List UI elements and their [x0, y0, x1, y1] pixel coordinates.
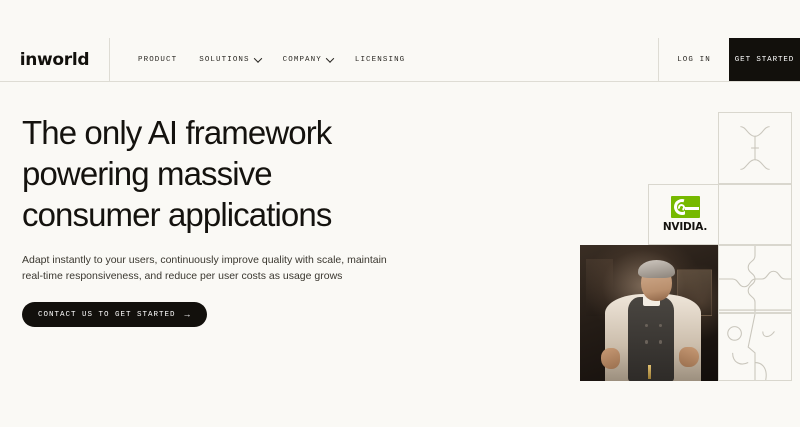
get-started-button[interactable]: GET STARTED [729, 38, 800, 81]
hero-subtext: Adapt instantly to your users, continuou… [22, 252, 394, 284]
landing-page: inworld PRODUCT SOLUTIONS COMPANY LICENS… [0, 0, 800, 427]
arrow-right-icon: → [183, 310, 192, 319]
nav-item-company-label: COMPANY [283, 56, 322, 64]
headline-line-3: consumer applications [22, 196, 331, 233]
logo[interactable]: inworld [0, 38, 110, 81]
puzzle-ibeam-tile [718, 112, 792, 184]
nvidia-logo-tile: NVIDIA. [648, 184, 722, 245]
hero-section: The only AI framework powering massive c… [22, 112, 422, 327]
empty-grid-tile [718, 184, 792, 245]
nav-item-product-label: PRODUCT [138, 56, 177, 64]
contact-us-button[interactable]: CONTACT US TO GET STARTED → [22, 302, 207, 327]
puzzle-piece-tile-lower [718, 313, 792, 381]
hero-visual-grid: NVIDIA. [580, 112, 792, 382]
nav-item-product[interactable]: PRODUCT [138, 56, 177, 64]
puzzle-piece-icon [719, 314, 791, 380]
nvidia-logo-label: NVIDIA. [663, 221, 707, 233]
primary-nav: PRODUCT SOLUTIONS COMPANY LICENSING [110, 38, 658, 81]
page-title: The only AI framework powering massive c… [22, 112, 422, 235]
get-started-button-label: GET STARTED [735, 56, 794, 64]
puzzle-piece-tile-upper [718, 245, 792, 313]
hero-photo [580, 245, 718, 381]
nav-item-solutions[interactable]: SOLUTIONS [199, 56, 260, 64]
nav-item-licensing[interactable]: LICENSING [355, 56, 405, 64]
login-button-label: LOG IN [677, 56, 711, 64]
chevron-down-icon [253, 54, 261, 62]
nav-actions: LOG IN GET STARTED [658, 38, 800, 81]
puzzle-piece-icon [719, 246, 791, 312]
nav-item-licensing-label: LICENSING [355, 56, 405, 64]
nvidia-eye-icon [671, 196, 700, 218]
contact-us-button-label: CONTACT US TO GET STARTED [38, 311, 176, 319]
headline-line-1: The only AI framework [22, 114, 331, 151]
login-button[interactable]: LOG IN [658, 38, 729, 81]
nav-item-solutions-label: SOLUTIONS [199, 56, 249, 64]
headline-line-2: powering massive [22, 155, 272, 192]
nav-item-company[interactable]: COMPANY [283, 56, 333, 64]
logo-wordmark: inworld [20, 50, 90, 70]
site-navbar: inworld PRODUCT SOLUTIONS COMPANY LICENS… [0, 38, 800, 82]
ibeam-icon [719, 113, 791, 183]
chevron-down-icon [326, 54, 334, 62]
